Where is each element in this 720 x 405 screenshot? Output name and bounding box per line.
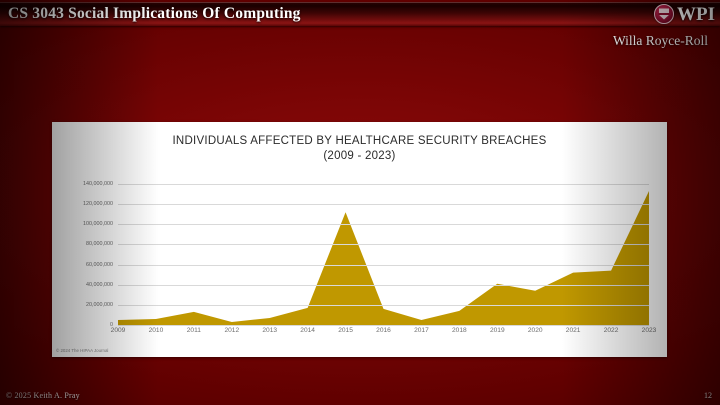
course-title: CS 3043 Social Implications Of Computing [8, 5, 301, 23]
chart-x-tick-label: 2011 [187, 327, 201, 334]
wpi-wordmark: WPI [677, 5, 715, 24]
footer-copyright: © 2025 Keith A. Pray [6, 391, 80, 400]
chart-credit: © 2024 The HIPAA Journal [56, 348, 108, 353]
chart-x-tick-label: 2017 [414, 327, 429, 334]
chart-y-tick-label: 80,000,000 [86, 241, 113, 247]
chart-gridline [118, 224, 649, 225]
chart-x-tick-label: 2009 [111, 327, 126, 334]
chart-title-line1: INDIVIDUALS AFFECTED BY HEALTHCARE SECUR… [172, 135, 546, 147]
chart-gridline [118, 184, 649, 185]
chart-x-tick-label: 2013 [262, 327, 277, 334]
wpi-logo: WPI [654, 3, 715, 25]
chart-y-tick-label: 60,000,000 [86, 262, 113, 268]
chart-x-tick-label: 2021 [566, 327, 581, 334]
chart-plot-area: 020,000,00040,000,00060,000,00080,000,00… [118, 184, 649, 325]
chart-x-tick-label: 2015 [338, 327, 353, 334]
chart-y-tick-label: 100,000,000 [83, 221, 113, 227]
chart-x-tick-label: 2020 [528, 327, 543, 334]
presenter-name: Willa Royce-Roll [613, 33, 708, 49]
chart-x-tick-label: 2016 [376, 327, 391, 334]
wpi-seal-icon [654, 4, 674, 24]
chart-x-tick-label: 2023 [642, 327, 657, 334]
area-series-2009-2023 [118, 184, 649, 325]
chart-x-tick-label: 2010 [149, 327, 164, 334]
chart-x-tick-label: 2019 [490, 327, 505, 334]
wpi-seal-band [659, 13, 670, 15]
chart-x-axis: 2009201020112012201320142015201620172018… [118, 325, 649, 339]
chart-panel: INDIVIDUALS AFFECTED BY HEALTHCARE SECUR… [52, 122, 667, 357]
chart-title: INDIVIDUALS AFFECTED BY HEALTHCARE SECUR… [52, 134, 667, 164]
slide-canvas: data-breaches-in-healthcare/ CS 3043 Soc… [0, 0, 720, 405]
chart-gridline [118, 305, 649, 306]
chart-gridline [118, 285, 649, 286]
chart-y-tick-label: 140,000,000 [83, 181, 113, 187]
chart-x-tick-label: 2018 [452, 327, 467, 334]
chart-y-tick-label: 20,000,000 [86, 302, 113, 308]
chart-y-tick-label: 40,000,000 [86, 282, 113, 288]
footer-page-number: 12 [704, 391, 712, 400]
chart-gridline [118, 265, 649, 266]
slide-header-bar: CS 3043 Social Implications Of Computing… [0, 2, 720, 26]
chart-x-tick-label: 2022 [604, 327, 619, 334]
chart-x-tick-label: 2012 [224, 327, 239, 334]
chart-gridline [118, 244, 649, 245]
chart-y-tick-label: 120,000,000 [83, 201, 113, 207]
chart-x-tick-label: 2014 [300, 327, 315, 334]
chart-title-line2: (2009 - 2023) [52, 149, 667, 164]
chart-gridline [118, 204, 649, 205]
